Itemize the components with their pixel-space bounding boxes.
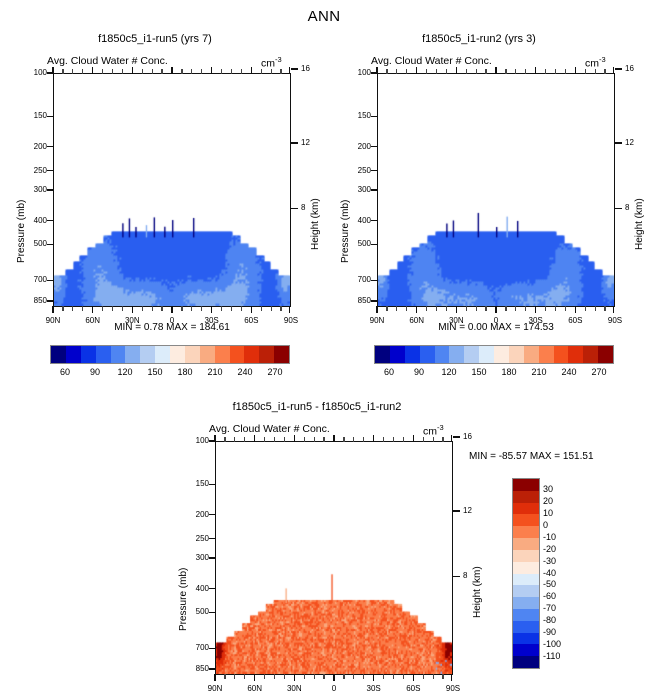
lat-tick-label-90S: 90S xyxy=(437,684,469,693)
lat-minor-tick-top xyxy=(224,437,225,442)
lat-minor-tick-top xyxy=(102,69,103,74)
lat-tick-bottom-60S xyxy=(575,306,576,313)
lat-tick-bottom-0 xyxy=(333,674,334,681)
lat-tick-top-0 xyxy=(171,67,172,74)
pressure-tick-300 xyxy=(47,189,54,190)
lat-tick-bottom-30S xyxy=(535,306,536,313)
units-exponent: -3 xyxy=(275,55,282,64)
lat-minor-tick-bottom xyxy=(383,674,384,679)
lat-minor-tick-bottom xyxy=(406,306,407,311)
lat-tick-top-30N xyxy=(456,67,457,74)
height-tick-16 xyxy=(291,68,298,69)
height-tick-16 xyxy=(615,68,622,69)
colorbar-segment-14[interactable] xyxy=(259,346,274,363)
height-tick-12 xyxy=(291,142,298,143)
pressure-tick-500 xyxy=(371,244,378,245)
colorbar-segment-14[interactable] xyxy=(513,644,539,656)
colorbar-segment-6[interactable] xyxy=(513,550,539,562)
lat-tick-label-60S: 60S xyxy=(397,684,429,693)
colorbar-segment-8[interactable] xyxy=(494,346,509,363)
pressure-tick-200 xyxy=(371,146,378,147)
lat-tick-label-60N: 60N xyxy=(401,316,433,325)
pressure-tick-850 xyxy=(371,300,378,301)
lat-minor-tick-bottom xyxy=(386,306,387,311)
colorbar-label--80: -80 xyxy=(543,615,583,625)
colorbar-segment-6[interactable] xyxy=(464,346,479,363)
lat-minor-tick-top xyxy=(433,437,434,442)
lat-tick-top-90N xyxy=(376,67,377,74)
lat-minor-tick-top xyxy=(545,69,546,74)
panel-run5-title: f1850c5_i1-run5 (yrs 7) xyxy=(0,33,310,45)
pressure-tick-label-500: 500 xyxy=(345,239,371,248)
panel-diff-minmax: MIN = -85.57 MAX = 151.51 xyxy=(469,451,594,462)
pressure-tick-250 xyxy=(209,538,216,539)
lat-tick-bottom-90N xyxy=(52,306,53,313)
colorbar-label-270: 270 xyxy=(583,367,615,377)
lat-minor-tick-bottom xyxy=(314,674,315,679)
colorbar-segment-15[interactable] xyxy=(513,656,539,668)
panel-run2-colorbar-labels: 6090120150180210240270 xyxy=(374,367,614,381)
lat-minor-tick-top xyxy=(343,437,344,442)
height-tick-label-8: 8 xyxy=(625,203,645,212)
lat-tick-label-30S: 30S xyxy=(358,684,390,693)
lat-minor-tick-top xyxy=(604,69,605,74)
lat-tick-top-0 xyxy=(495,67,496,74)
lat-tick-label-30N: 30N xyxy=(116,316,148,325)
pressure-tick-500 xyxy=(209,612,216,613)
lat-tick-bottom-30N xyxy=(132,306,133,313)
lat-tick-top-90N xyxy=(52,67,53,74)
height-tick-label-8: 8 xyxy=(463,571,483,580)
lat-minor-tick-top xyxy=(264,437,265,442)
lat-minor-tick-top xyxy=(363,437,364,442)
units-text: cm xyxy=(423,426,437,438)
lat-minor-tick-top xyxy=(426,69,427,74)
panel-diff-title: f1850c5_i1-run5 - f1850c5_i1-run2 xyxy=(162,401,472,413)
lat-tick-bottom-60S xyxy=(413,674,414,681)
lat-minor-tick-bottom xyxy=(426,306,427,311)
colorbar-segment-7[interactable] xyxy=(479,346,494,363)
colorbar-segment-7[interactable] xyxy=(155,346,170,363)
lat-tick-bottom-30N xyxy=(456,306,457,313)
lat-minor-tick-top xyxy=(142,69,143,74)
pressure-tick-500 xyxy=(47,244,54,245)
lat-minor-tick-bottom xyxy=(271,306,272,311)
panel-diff-units: cm-3 xyxy=(423,423,444,438)
pressure-tick-label-150: 150 xyxy=(345,111,371,120)
colorbar-label-90: 90 xyxy=(79,367,111,377)
panel-run2-title: f1850c5_i1-run2 (yrs 3) xyxy=(324,33,634,45)
lat-minor-tick-bottom xyxy=(274,674,275,679)
colorbar-label-0: 0 xyxy=(543,520,583,530)
lat-minor-tick-top xyxy=(112,69,113,74)
panel-run2: f1850c5_i1-run2 (yrs 3) Avg. Cloud Water… xyxy=(324,28,648,418)
pressure-tick-label-150: 150 xyxy=(183,479,209,488)
pressure-tick-700 xyxy=(47,280,54,281)
colorbar-segment-4[interactable] xyxy=(111,346,126,363)
colorbar-segment-2[interactable] xyxy=(513,503,539,515)
colorbar-segment-0[interactable] xyxy=(513,479,539,491)
pressure-tick-label-500: 500 xyxy=(183,607,209,616)
lat-tick-top-30S xyxy=(211,67,212,74)
colorbar-segment-2[interactable] xyxy=(81,346,96,363)
pressure-tick-label-850: 850 xyxy=(21,296,47,305)
lat-minor-tick-bottom xyxy=(161,306,162,311)
pressure-tick-label-300: 300 xyxy=(183,553,209,562)
pressure-tick-label-850: 850 xyxy=(345,296,371,305)
height-tick-16 xyxy=(453,436,460,437)
lat-minor-tick-bottom xyxy=(442,674,443,679)
lat-minor-tick-bottom xyxy=(545,306,546,311)
lat-minor-tick-top xyxy=(82,69,83,74)
colorbar-segment-5[interactable] xyxy=(125,346,140,363)
colorbar-segment-15[interactable] xyxy=(274,346,289,363)
pressure-tick-label-100: 100 xyxy=(21,68,47,77)
panel-run2-plot[interactable] xyxy=(377,73,615,307)
lat-tick-top-30N xyxy=(132,67,133,74)
lat-minor-tick-top xyxy=(442,437,443,442)
lat-minor-tick-top xyxy=(436,69,437,74)
colorbar-segment-9[interactable] xyxy=(185,346,200,363)
colorbar-label--10: -10 xyxy=(543,532,583,542)
lat-minor-tick-bottom xyxy=(72,306,73,311)
lat-tick-bottom-60S xyxy=(251,306,252,313)
lat-tick-top-60S xyxy=(413,435,414,442)
colorbar-segment-11[interactable] xyxy=(539,346,554,363)
lat-minor-tick-top xyxy=(181,69,182,74)
lat-minor-tick-top xyxy=(505,69,506,74)
lat-tick-top-60S xyxy=(575,67,576,74)
colorbar-segment-8[interactable] xyxy=(513,574,539,586)
colorbar-segment-13[interactable] xyxy=(568,346,583,363)
lat-tick-top-30S xyxy=(373,435,374,442)
height-tick-12 xyxy=(615,142,622,143)
lat-tick-bottom-60N xyxy=(254,674,255,681)
lat-minor-tick-bottom xyxy=(466,306,467,311)
lat-minor-tick-top xyxy=(284,437,285,442)
colorbar-label--20: -20 xyxy=(543,544,583,554)
lat-minor-tick-bottom xyxy=(221,306,222,311)
lat-minor-tick-top xyxy=(231,69,232,74)
lat-minor-tick-top xyxy=(353,437,354,442)
pressure-tick-label-100: 100 xyxy=(345,68,371,77)
lat-tick-label-90N: 90N xyxy=(361,316,393,325)
colorbar-segment-1[interactable] xyxy=(66,346,81,363)
colorbar-label-240: 240 xyxy=(553,367,585,377)
lat-tick-bottom-60N xyxy=(416,306,417,313)
pressure-tick-label-250: 250 xyxy=(345,166,371,175)
colorbar-label-20: 20 xyxy=(543,496,583,506)
pressure-tick-250 xyxy=(371,170,378,171)
lat-tick-top-0 xyxy=(333,435,334,442)
lat-tick-bottom-0 xyxy=(495,306,496,313)
lat-minor-tick-top xyxy=(122,69,123,74)
colorbar-segment-0[interactable] xyxy=(375,346,390,363)
lat-minor-tick-bottom xyxy=(264,674,265,679)
lat-minor-tick-top xyxy=(476,69,477,74)
colorbar-segment-2[interactable] xyxy=(405,346,420,363)
lat-minor-tick-top xyxy=(191,69,192,74)
lat-minor-tick-bottom xyxy=(201,306,202,311)
lat-minor-tick-top xyxy=(323,437,324,442)
units-exponent: -3 xyxy=(599,55,606,64)
pressure-tick-label-200: 200 xyxy=(345,142,371,151)
lat-minor-tick-top xyxy=(72,69,73,74)
colorbar-segment-11[interactable] xyxy=(215,346,230,363)
colorbar-segment-4[interactable] xyxy=(513,526,539,538)
colorbar-segment-1[interactable] xyxy=(513,491,539,503)
lat-tick-bottom-0 xyxy=(171,306,172,313)
pressure-tick-700 xyxy=(371,280,378,281)
lat-tick-top-90S xyxy=(289,67,290,74)
lat-minor-tick-top xyxy=(271,69,272,74)
colorbar-segment-8[interactable] xyxy=(170,346,185,363)
lat-tick-top-60S xyxy=(251,67,252,74)
colorbar-segment-0[interactable] xyxy=(51,346,66,363)
lat-tick-label-0: 0 xyxy=(156,316,188,325)
lat-minor-tick-top xyxy=(403,437,404,442)
colorbar-segment-10[interactable] xyxy=(200,346,215,363)
panel-run5-colorbar[interactable] xyxy=(50,345,290,364)
pressure-tick-200 xyxy=(209,514,216,515)
pressure-tick-300 xyxy=(209,557,216,558)
colorbar-segment-13[interactable] xyxy=(244,346,259,363)
lat-minor-tick-top xyxy=(396,69,397,74)
colorbar-segment-5[interactable] xyxy=(513,538,539,550)
pressure-tick-150 xyxy=(47,116,54,117)
colorbar-label--90: -90 xyxy=(543,627,583,637)
panel-run5-units: cm-3 xyxy=(261,55,282,70)
lat-tick-label-60S: 60S xyxy=(559,316,591,325)
lat-tick-top-90S xyxy=(451,435,452,442)
colorbar-segment-10[interactable] xyxy=(524,346,539,363)
panel-run2-ylabel-left: Pressure (mb) xyxy=(340,200,351,263)
lat-minor-tick-top xyxy=(515,69,516,74)
lat-minor-tick-top xyxy=(241,69,242,74)
colorbar-segment-7[interactable] xyxy=(513,562,539,574)
colorbar-segment-5[interactable] xyxy=(449,346,464,363)
pressure-tick-850 xyxy=(47,300,54,301)
lat-minor-tick-bottom xyxy=(122,306,123,311)
colorbar-label-120: 120 xyxy=(109,367,141,377)
lat-minor-tick-bottom xyxy=(304,674,305,679)
lat-tick-label-90N: 90N xyxy=(199,684,231,693)
lat-tick-label-30N: 30N xyxy=(278,684,310,693)
pressure-tick-label-200: 200 xyxy=(21,142,47,151)
colorbar-segment-15[interactable] xyxy=(598,346,613,363)
lat-minor-tick-bottom xyxy=(505,306,506,311)
lat-tick-label-0: 0 xyxy=(480,316,512,325)
colorbar-segment-11[interactable] xyxy=(513,609,539,621)
height-tick-label-16: 16 xyxy=(463,432,483,441)
colorbar-label--100: -100 xyxy=(543,639,583,649)
pressure-tick-150 xyxy=(371,116,378,117)
lat-tick-label-30S: 30S xyxy=(520,316,552,325)
height-tick-label-16: 16 xyxy=(625,64,645,73)
pressure-tick-label-250: 250 xyxy=(183,534,209,543)
lat-minor-tick-bottom xyxy=(446,306,447,311)
height-tick-label-12: 12 xyxy=(463,506,483,515)
lat-minor-tick-top xyxy=(466,69,467,74)
colorbar-label--40: -40 xyxy=(543,568,583,578)
height-tick-12 xyxy=(453,510,460,511)
colorbar-label-210: 210 xyxy=(523,367,555,377)
panel-run5-colorbar-labels: 6090120150180210240270 xyxy=(50,367,290,381)
lat-minor-tick-bottom xyxy=(261,306,262,311)
colorbar-label--50: -50 xyxy=(543,579,583,589)
pressure-tick-label-300: 300 xyxy=(21,185,47,194)
colorbar-label-210: 210 xyxy=(199,367,231,377)
panel-run5-plot[interactable] xyxy=(53,73,291,307)
height-tick-8 xyxy=(291,208,298,209)
pressure-tick-label-400: 400 xyxy=(345,216,371,225)
colorbar-label-150: 150 xyxy=(463,367,495,377)
colorbar-segment-9[interactable] xyxy=(513,585,539,597)
height-tick-label-16: 16 xyxy=(301,64,321,73)
lat-tick-label-30N: 30N xyxy=(440,316,472,325)
lat-tick-label-90S: 90S xyxy=(599,316,631,325)
panel-run2-subtitle: Avg. Cloud Water # Conc. xyxy=(371,55,492,67)
lat-minor-tick-bottom xyxy=(436,306,437,311)
panel-diff-colorbar[interactable] xyxy=(512,478,540,669)
colorbar-segment-10[interactable] xyxy=(513,597,539,609)
colorbar-segment-3[interactable] xyxy=(513,514,539,526)
panel-run5-ylabel-left: Pressure (mb) xyxy=(16,200,27,263)
lat-minor-tick-top xyxy=(280,69,281,74)
colorbar-segment-3[interactable] xyxy=(96,346,111,363)
colorbar-label--110: -110 xyxy=(543,651,583,661)
lat-tick-label-60N: 60N xyxy=(239,684,271,693)
colorbar-label-60: 60 xyxy=(49,367,81,377)
pressure-tick-700 xyxy=(209,648,216,649)
height-tick-label-12: 12 xyxy=(301,138,321,147)
pressure-tick-label-700: 700 xyxy=(345,275,371,284)
lat-minor-tick-bottom xyxy=(476,306,477,311)
lat-minor-tick-bottom xyxy=(152,306,153,311)
colorbar-label--70: -70 xyxy=(543,603,583,613)
pressure-tick-label-200: 200 xyxy=(183,510,209,519)
colorbar-label-180: 180 xyxy=(169,367,201,377)
colorbar-label--30: -30 xyxy=(543,556,583,566)
units-text: cm xyxy=(585,58,599,70)
lat-minor-tick-top xyxy=(423,437,424,442)
pressure-tick-label-700: 700 xyxy=(21,275,47,284)
pressure-tick-label-100: 100 xyxy=(183,436,209,445)
lat-minor-tick-top xyxy=(585,69,586,74)
lat-minor-tick-bottom xyxy=(284,674,285,679)
pressure-tick-400 xyxy=(371,220,378,221)
colorbar-label-240: 240 xyxy=(229,367,261,377)
lat-minor-tick-bottom xyxy=(525,306,526,311)
panel-run5-subtitle: Avg. Cloud Water # Conc. xyxy=(47,55,168,67)
lat-tick-top-30N xyxy=(294,435,295,442)
colorbar-segment-12[interactable] xyxy=(554,346,569,363)
lat-tick-top-90N xyxy=(214,435,215,442)
lat-tick-label-90N: 90N xyxy=(37,316,69,325)
pressure-tick-400 xyxy=(47,220,54,221)
colorbar-segment-9[interactable] xyxy=(509,346,524,363)
lat-minor-tick-bottom xyxy=(353,674,354,679)
panel-run2-colorbar[interactable] xyxy=(374,345,614,364)
height-tick-label-12: 12 xyxy=(625,138,645,147)
lat-minor-tick-bottom xyxy=(244,674,245,679)
lat-minor-tick-bottom xyxy=(343,674,344,679)
lat-minor-tick-bottom xyxy=(363,674,364,679)
units-text: cm xyxy=(261,58,275,70)
lat-minor-tick-bottom xyxy=(423,674,424,679)
figure-main-title: ANN xyxy=(0,8,648,25)
pressure-tick-label-400: 400 xyxy=(21,216,47,225)
lat-tick-bottom-90S xyxy=(613,306,614,313)
lat-minor-tick-bottom xyxy=(604,306,605,311)
panel-diff-colorbar-labels: 3020100-10-20-30-40-50-60-70-80-90-100-1… xyxy=(543,478,587,669)
lat-tick-bottom-90S xyxy=(289,306,290,313)
panel-run5: f1850c5_i1-run5 (yrs 7) Avg. Cloud Water… xyxy=(0,28,324,418)
colorbar-label--60: -60 xyxy=(543,591,583,601)
pressure-tick-label-250: 250 xyxy=(21,166,47,175)
colorbar-segment-12[interactable] xyxy=(230,346,245,363)
lat-minor-tick-top xyxy=(314,437,315,442)
lat-minor-tick-top xyxy=(525,69,526,74)
lat-tick-label-30S: 30S xyxy=(196,316,228,325)
lat-tick-bottom-30S xyxy=(373,674,374,681)
lat-minor-tick-top xyxy=(274,437,275,442)
lat-minor-tick-top xyxy=(393,437,394,442)
pressure-tick-850 xyxy=(209,668,216,669)
lat-minor-tick-bottom xyxy=(231,306,232,311)
colorbar-segment-14[interactable] xyxy=(583,346,598,363)
height-tick-8 xyxy=(615,208,622,209)
lat-minor-tick-bottom xyxy=(82,306,83,311)
lat-tick-top-60N xyxy=(254,435,255,442)
height-tick-8 xyxy=(453,576,460,577)
colorbar-segment-13[interactable] xyxy=(513,633,539,645)
panel-run2-units: cm-3 xyxy=(585,55,606,70)
pressure-tick-label-850: 850 xyxy=(183,664,209,673)
panel-diff-subtitle: Avg. Cloud Water # Conc. xyxy=(209,423,330,435)
panel-diff-plot[interactable] xyxy=(215,441,453,675)
colorbar-segment-6[interactable] xyxy=(140,346,155,363)
lat-minor-tick-top xyxy=(244,437,245,442)
lat-minor-tick-top xyxy=(386,69,387,74)
lat-minor-tick-bottom xyxy=(393,674,394,679)
units-exponent: -3 xyxy=(437,423,444,432)
pressure-tick-label-700: 700 xyxy=(183,643,209,652)
colorbar-segment-3[interactable] xyxy=(420,346,435,363)
lat-minor-tick-top xyxy=(201,69,202,74)
colorbar-label-180: 180 xyxy=(493,367,525,377)
lat-minor-tick-bottom xyxy=(112,306,113,311)
colorbar-label-270: 270 xyxy=(259,367,291,377)
lat-tick-bottom-30S xyxy=(211,306,212,313)
colorbar-label-30: 30 xyxy=(543,484,583,494)
lat-minor-tick-bottom xyxy=(62,306,63,311)
colorbar-label-60: 60 xyxy=(373,367,405,377)
pressure-tick-label-150: 150 xyxy=(21,111,47,120)
panel-diff: f1850c5_i1-run5 - f1850c5_i1-run2 Avg. C… xyxy=(162,398,648,694)
lat-minor-tick-bottom xyxy=(595,306,596,311)
colorbar-segment-1[interactable] xyxy=(390,346,405,363)
lat-tick-bottom-60N xyxy=(92,306,93,313)
colorbar-label-120: 120 xyxy=(433,367,465,377)
lat-tick-label-0: 0 xyxy=(318,684,350,693)
lat-minor-tick-bottom xyxy=(280,306,281,311)
lat-minor-tick-top xyxy=(161,69,162,74)
lat-minor-tick-top xyxy=(304,437,305,442)
colorbar-segment-4[interactable] xyxy=(435,346,450,363)
lat-minor-tick-bottom xyxy=(181,306,182,311)
colorbar-segment-12[interactable] xyxy=(513,621,539,633)
